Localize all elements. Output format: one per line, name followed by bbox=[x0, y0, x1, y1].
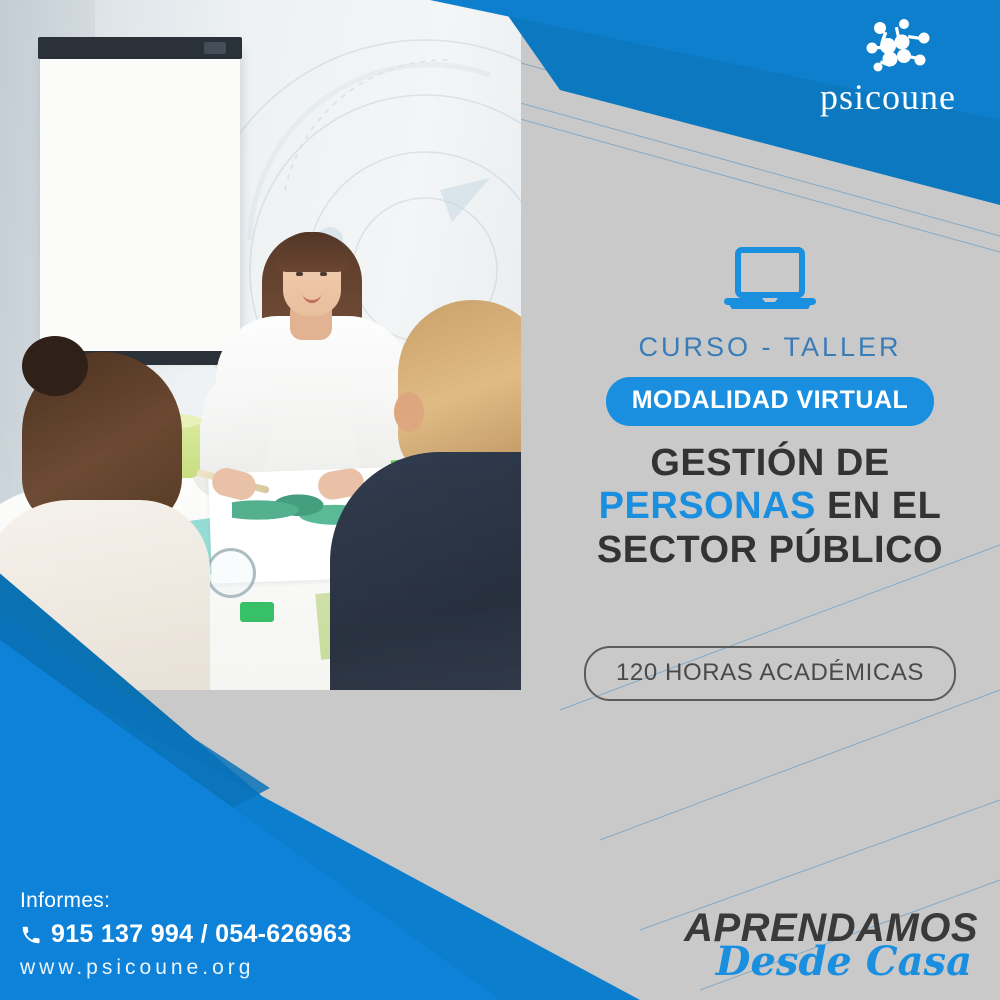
title-line-2-rest: EN EL bbox=[816, 485, 941, 527]
title-line-3: SECTOR PÚBLICO bbox=[597, 529, 943, 571]
photo-overlay bbox=[0, 0, 521, 690]
contact-block: Informes: 915 137 994 / 054-626963 www.p… bbox=[20, 889, 352, 980]
slogan-block: APRENDAMOS Desde Casa bbox=[684, 908, 978, 982]
laptop-icon bbox=[724, 246, 816, 316]
photo-scene bbox=[0, 0, 521, 690]
course-kicker: CURSO - TALLER bbox=[560, 332, 980, 363]
brand-wordmark: psicoune bbox=[798, 79, 978, 115]
molecule-network-icon bbox=[798, 18, 978, 72]
title-line-1: GESTIÓN DE bbox=[650, 442, 889, 484]
course-title: GESTIÓN DE PERSONAS EN EL SECTOR PÚBLICO bbox=[560, 442, 980, 572]
hero-photo bbox=[0, 0, 521, 690]
phone-row[interactable]: 915 137 994 / 054-626963 bbox=[20, 920, 352, 949]
modality-badge: MODALIDAD VIRTUAL bbox=[606, 377, 935, 426]
website-url[interactable]: www.psicoune.org bbox=[20, 956, 352, 980]
brand-logo[interactable]: psicoune bbox=[798, 18, 978, 118]
slogan-line-2: Desde Casa bbox=[684, 942, 972, 982]
phone-icon bbox=[20, 924, 42, 946]
title-highlight: PERSONAS bbox=[599, 485, 816, 527]
promotional-flyer: psicoune CURSO - TALLER MODALIDAD VIRTUA… bbox=[0, 0, 1000, 1000]
phone-numbers: 915 137 994 / 054-626963 bbox=[51, 920, 352, 949]
academic-hours-badge: 120 HORAS ACADÉMICAS bbox=[584, 646, 956, 701]
contact-label: Informes: bbox=[20, 889, 352, 913]
course-info-block: CURSO - TALLER MODALIDAD VIRTUAL GESTIÓN… bbox=[560, 246, 980, 701]
